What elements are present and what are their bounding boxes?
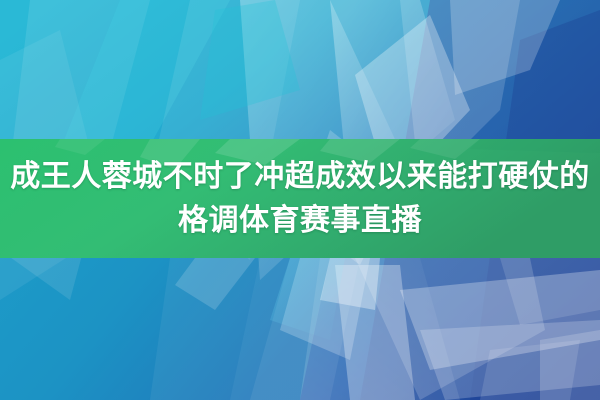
caption-band: 成王人蓉城不时了冲超成效以来能打硬仗的格调体育赛事直播 [0,139,600,258]
banner-image: 成王人蓉城不时了冲超成效以来能打硬仗的格调体育赛事直播 [0,0,600,400]
banner-caption-text: 成王人蓉城不时了冲超成效以来能打硬仗的格调体育赛事直播 [0,139,600,258]
